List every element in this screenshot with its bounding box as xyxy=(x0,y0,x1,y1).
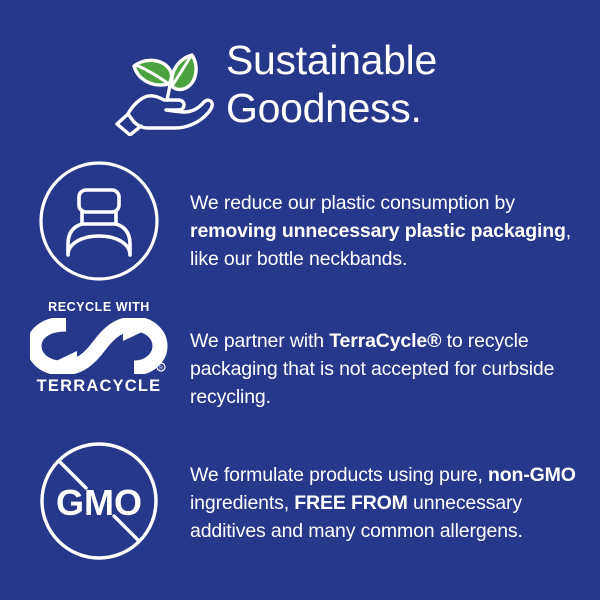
svg-text:R: R xyxy=(159,366,163,372)
terracycle-logo: RECYCLE WITH R xyxy=(26,300,172,395)
segment: We formulate products using pure, xyxy=(190,464,488,486)
segment: We partner with xyxy=(190,330,329,352)
no-gmo-icon: GMO xyxy=(38,440,160,562)
feature-text-gmo: We formulate products using pure, non-GM… xyxy=(190,440,600,545)
page-title: Sustainable Goodness. xyxy=(226,36,437,132)
terracycle-bottom-label: TERRACYCLE xyxy=(37,377,162,395)
segment-bold: non-GMO xyxy=(488,464,576,486)
segment-bold: FREE FROM xyxy=(294,492,407,514)
feature-text-terracycle: We partner with TerraCycle® to recycle p… xyxy=(190,300,600,411)
infinity-recycle-arrows-icon: R xyxy=(30,318,168,374)
feature-row-plastic: We reduce our plastic consumption by rem… xyxy=(0,160,600,300)
segment-bold: removing unnecessary plastic packaging xyxy=(190,220,566,242)
terracycle-top-label: RECYCLE WITH xyxy=(48,300,150,314)
feature-row-terracycle: RECYCLE WITH R xyxy=(0,300,600,440)
bottle-in-circle-icon xyxy=(38,160,160,282)
feature-rows: We reduce our plastic consumption by rem… xyxy=(0,160,600,590)
feature-icon-gmo: GMO xyxy=(0,440,190,562)
feature-text-plastic: We reduce our plastic consumption by rem… xyxy=(190,160,600,273)
feature-row-gmo: GMO We formulate products using pure, no… xyxy=(0,440,600,590)
gmo-label: GMO xyxy=(56,482,142,523)
segment-bold: TerraCycle® xyxy=(329,330,441,352)
hand-holding-plant-icon xyxy=(112,36,216,136)
feature-icon-terracycle: RECYCLE WITH R xyxy=(0,300,190,395)
header: Sustainable Goodness. xyxy=(0,24,600,144)
feature-icon-plastic xyxy=(0,160,190,282)
segment: We reduce our plastic consumption by xyxy=(190,192,515,214)
sustainable-goodness-poster: Sustainable Goodness. xyxy=(0,0,600,600)
segment: ingredients, xyxy=(190,492,294,514)
